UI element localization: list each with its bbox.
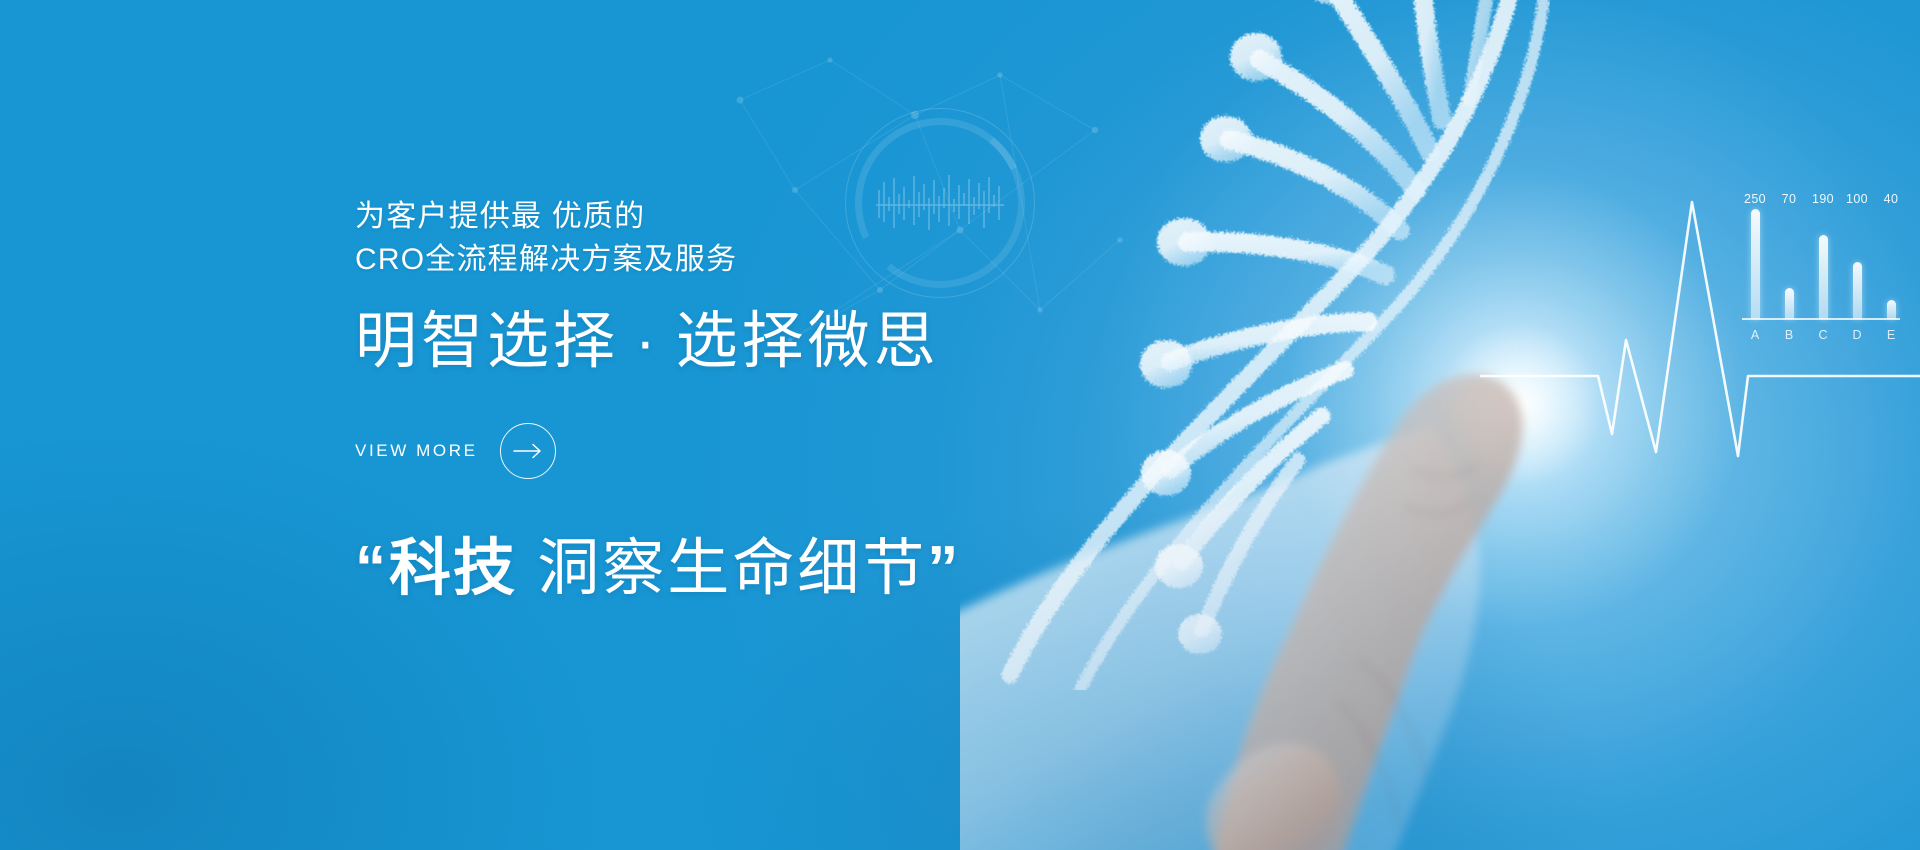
chart-bar-value: 70 — [1782, 192, 1797, 206]
chart-bar-value: 190 — [1812, 192, 1834, 206]
view-more-button[interactable]: VIEW MORE — [355, 423, 556, 479]
hero-subtitle: 为客户提供最 优质的 CRO全流程解决方案及服务 — [355, 196, 1155, 281]
quote-rest-text: 洞察生命细节 — [517, 534, 927, 603]
chart-category-label: D — [1852, 328, 1862, 342]
hero-headline-separator: · — [619, 307, 676, 376]
chart-bar-value: 250 — [1744, 192, 1766, 206]
chart-bar-fill — [1751, 209, 1760, 319]
chart-category-label: A — [1750, 328, 1760, 342]
chart-bar-e: 40 — [1886, 209, 1896, 319]
hero-subtitle-line-1: 为客户提供最 优质的 — [355, 200, 645, 233]
chart-bar-fill — [1887, 300, 1896, 319]
hero-subtitle-line-2: CRO全流程解决方案及服务 — [355, 239, 1155, 282]
chart-bar-c: 190 — [1818, 209, 1828, 319]
quote-open-mark: “ — [355, 534, 389, 603]
chart-bar-b: 70 — [1784, 209, 1794, 319]
bar-chart: 250 70 190 100 40 A B C D — [1742, 186, 1902, 346]
arrow-right-icon[interactable] — [500, 423, 556, 479]
chart-bars: 250 70 190 100 40 — [1750, 209, 1896, 319]
chart-bar-fill — [1785, 288, 1794, 319]
chart-bar-a: 250 — [1750, 209, 1760, 319]
hero-copy: 为客户提供最 优质的 CRO全流程解决方案及服务 明智选择·选择微思 VIEW … — [355, 196, 1155, 603]
hero-quote: “科技 洞察生命细节” — [355, 535, 1155, 603]
chart-category-labels: A B C D E — [1750, 328, 1896, 342]
hero-headline: 明智选择·选择微思 — [355, 307, 1155, 376]
chart-bar-value: 100 — [1846, 192, 1868, 206]
chart-category-label: C — [1818, 328, 1828, 342]
chart-bar-fill — [1853, 262, 1862, 319]
hero-banner: 250 70 190 100 40 A B C D — [0, 0, 1920, 850]
hero-headline-right: 选择微思 — [676, 307, 940, 376]
hero-headline-left: 明智选择 — [355, 307, 619, 376]
chart-bar-value: 40 — [1884, 192, 1899, 206]
chart-category-label: B — [1784, 328, 1794, 342]
chart-bar-d: 100 — [1852, 209, 1862, 319]
chart-category-label: E — [1886, 328, 1896, 342]
arrow-right-glyph — [513, 443, 543, 459]
chart-bar-fill — [1819, 235, 1828, 319]
view-more-label: VIEW MORE — [355, 441, 478, 461]
quote-strong-text: 科技 — [389, 534, 517, 603]
quote-close-mark: ” — [927, 534, 961, 603]
